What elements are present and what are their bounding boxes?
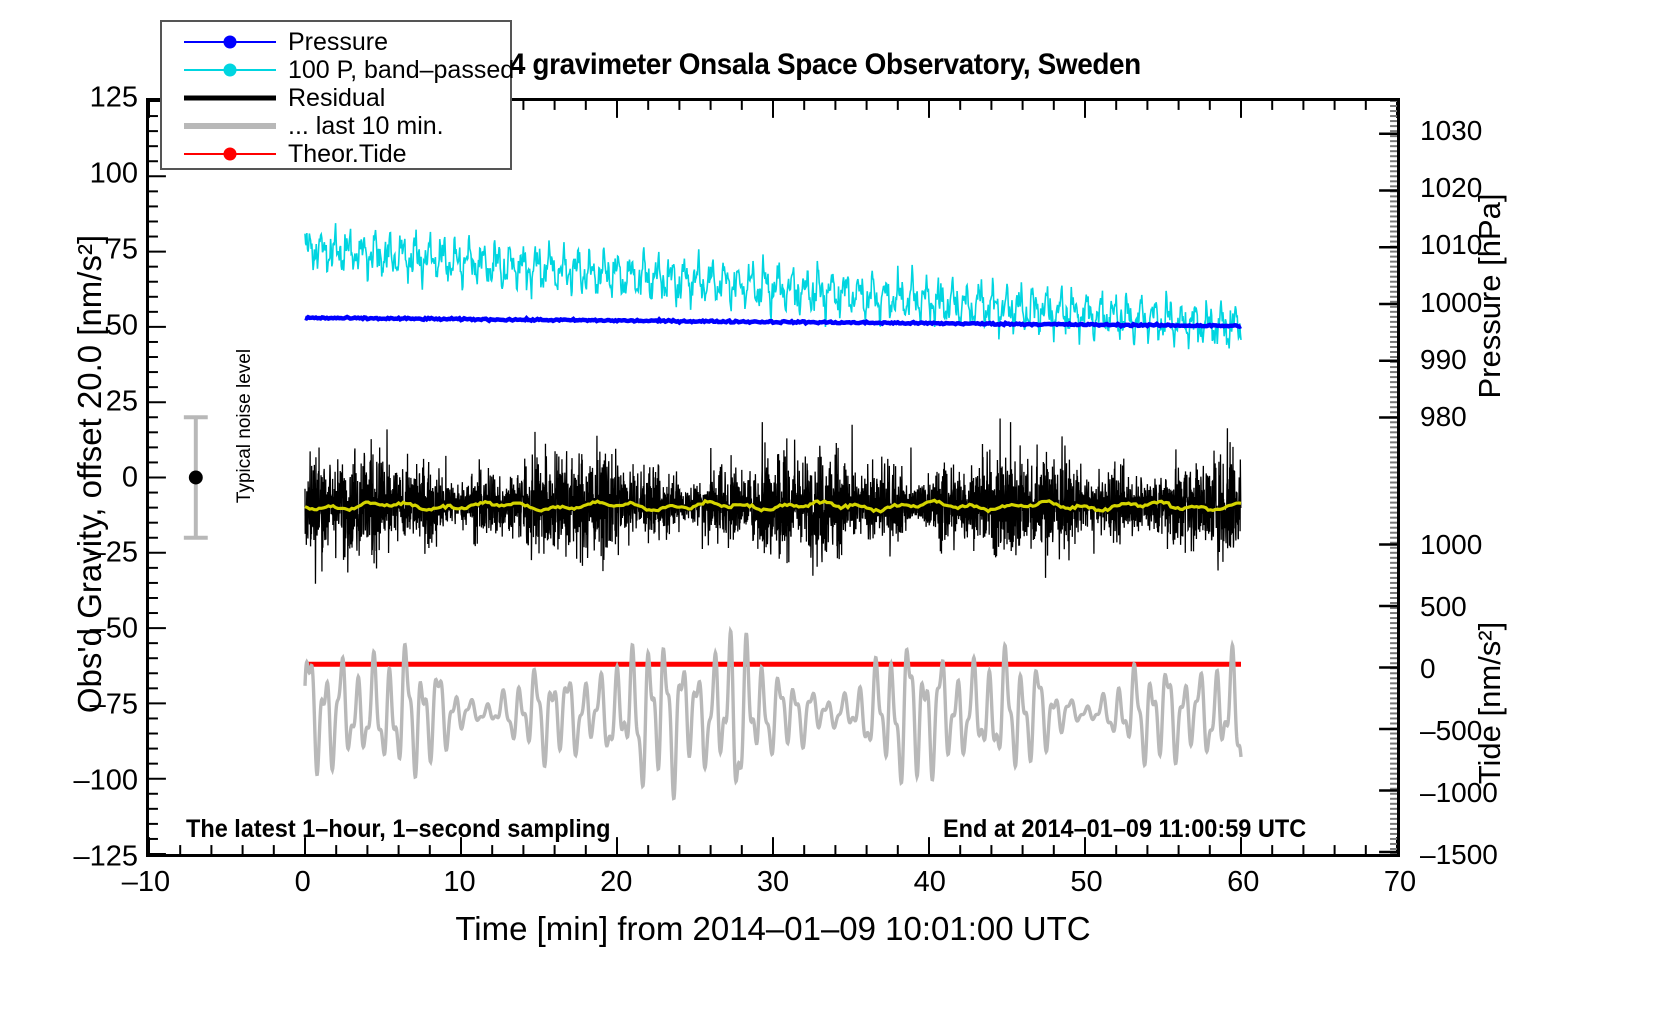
series-pressure: [305, 317, 1241, 327]
noise-level-label: Typical noise level: [234, 331, 256, 521]
y-tick-label-left: –50: [90, 613, 138, 646]
chart-page: SCG_054 gravimeter Onsala Space Observat…: [0, 0, 1660, 1020]
end-time-note: End at 2014–01–09 11:00:59 UTC: [943, 815, 1306, 844]
series-last-10-min: [305, 631, 1241, 798]
x-tick-label: 30: [728, 866, 818, 899]
legend-swatch-icon: [184, 31, 276, 53]
legend-item-label: 100 P, band–passed: [288, 56, 514, 85]
y-tick-label-left: –25: [90, 537, 138, 570]
legend-item-2[interactable]: Residual: [184, 84, 510, 112]
y-tick-label-tide: 500: [1420, 591, 1467, 623]
y-tick-label-pressure: 990: [1420, 344, 1467, 376]
legend-item-3[interactable]: ... last 10 min.: [184, 112, 510, 140]
noise-level-errorbar: [184, 417, 208, 537]
plot-area: [146, 98, 1400, 857]
y-tick-label-pressure: 1010: [1420, 229, 1482, 261]
y-tick-label-left: 0: [122, 461, 138, 494]
x-tick-label: 10: [415, 866, 505, 899]
legend-swatch-icon: [184, 115, 276, 137]
x-tick-label: 40: [885, 866, 975, 899]
latest-sampling-note: The latest 1–hour, 1–second sampling: [186, 815, 610, 844]
y-axis-label-right-tide: Tide [nm/s²]: [1472, 513, 1508, 893]
y-tick-label-tide: –500: [1420, 715, 1482, 747]
series-residual: [305, 419, 1241, 584]
y-tick-label-left: –75: [90, 689, 138, 722]
legend-swatch-icon: [184, 87, 276, 109]
x-tick-label: 50: [1042, 866, 1132, 899]
plot-canvas: [149, 101, 1397, 854]
x-tick-label: 20: [571, 866, 661, 899]
y-tick-label-left: 100: [90, 157, 138, 190]
legend-item-label: Theor.Tide: [288, 140, 407, 169]
y-tick-label-tide: 0: [1420, 653, 1436, 685]
y-tick-label-left: 75: [106, 233, 138, 266]
x-axis-label: Time [min] from 2014–01–09 10:01:00 UTC: [146, 910, 1400, 948]
legend-item-label: Pressure: [288, 28, 388, 57]
y-tick-label-tide: –1000: [1420, 777, 1498, 809]
y-tick-label-pressure: 980: [1420, 401, 1467, 433]
y-tick-label-pressure: 1030: [1420, 115, 1482, 147]
series-100p-bandpassed: [305, 223, 1241, 349]
legend-swatch-icon: [184, 59, 276, 81]
y-tick-label-pressure: 1000: [1420, 287, 1482, 319]
y-tick-label-left: 25: [106, 385, 138, 418]
legend-swatch-icon: [184, 143, 276, 165]
y-tick-label-tide: –1500: [1420, 839, 1498, 871]
legend-item-label: Residual: [288, 84, 385, 113]
y-tick-label-left: 125: [90, 82, 138, 115]
legend-item-4[interactable]: Theor.Tide: [184, 140, 510, 168]
y-tick-label-left: 50: [106, 309, 138, 342]
legend-item-1[interactable]: 100 P, band–passed: [184, 56, 510, 84]
y-tick-label-left: –100: [73, 765, 138, 798]
y-tick-label-pressure: 1020: [1420, 172, 1482, 204]
legend-item-0[interactable]: Pressure: [184, 28, 510, 56]
y-axis-label-left: Obs'd Gravity, offset 20.0 [nm/s²]: [71, 94, 109, 854]
legend-item-label: ... last 10 min.: [288, 112, 444, 141]
x-tick-label: 0: [258, 866, 348, 899]
x-tick-label: –10: [101, 866, 191, 899]
y-tick-label-tide: 1000: [1420, 529, 1482, 561]
x-tick-label: 60: [1198, 866, 1288, 899]
chart-legend: Pressure100 P, band–passedResidual... la…: [160, 20, 512, 170]
